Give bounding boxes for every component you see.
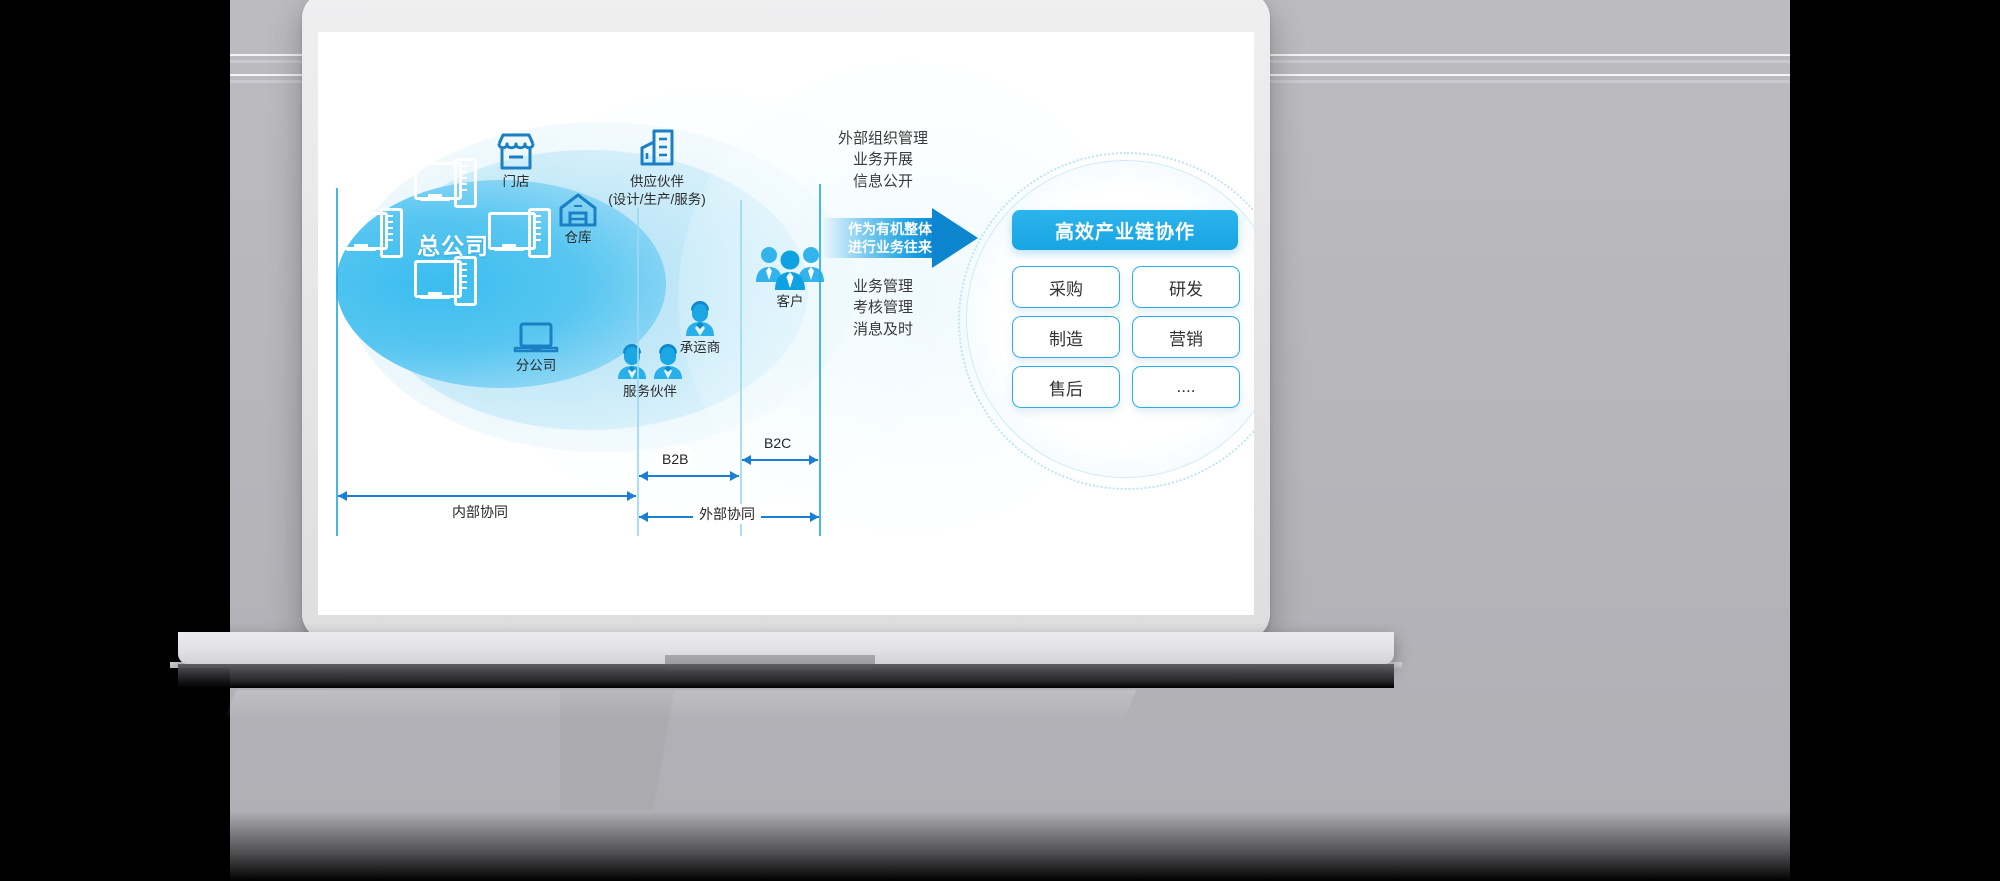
text-line: 消息及时 [818,319,948,340]
desktop-computer-icon-right [488,212,546,254]
arrow-text: 作为有机整体 进行业务往来 [838,220,942,256]
text-line: 考核管理 [818,297,948,318]
arrow-text-line1: 作为有机整体 [838,220,942,238]
node-label-line1: 供应伙伴 [597,174,717,190]
node-supply-partner: 供应伙伴 (设计/生产/服务) [597,128,717,207]
measure-arrow-internal [338,495,636,497]
chip-marketing[interactable]: 营销 [1132,316,1240,358]
chip-procurement[interactable]: 采购 [1012,266,1120,308]
backdrop-floor-shadow [230,811,1790,881]
chip-aftersales[interactable]: 售后 [1012,366,1120,408]
separator-right [819,184,821,536]
text-line: 业务管理 [818,276,948,297]
desktop-computer-icon-bottom [414,260,472,302]
desktop-computer-icon [414,162,472,204]
warehouse-icon [557,192,599,228]
measure-label-b2b: B2B [656,451,694,467]
measure-arrow-b2b [639,475,739,477]
desktop-computer-icon-left [340,212,398,254]
node-label: 分公司 [496,358,576,374]
person-suit-icon [681,298,719,338]
transition-arrow: 作为有机整体 进行业务往来 [824,208,978,268]
people-group-icon [754,244,826,292]
text-line: 信息公开 [818,171,948,192]
measure-arrow-b2c [742,459,818,461]
chip-rnd[interactable]: 研发 [1132,266,1240,308]
storefront-icon [494,132,538,172]
desktop-computer-icon [414,260,472,302]
measure-label-external: 外部协同 [693,504,761,524]
node-branch-office: 分公司 [496,320,576,374]
separator-b2b-b2c [740,200,742,536]
separator-left [336,188,338,536]
node-storefront: 门店 [476,132,556,190]
node-service-partner: 服务伙伴 [600,342,700,400]
hq-label: 总公司 [417,227,489,261]
office-building-icon [636,128,678,172]
desktop-computer-icon [340,212,398,254]
measure-label-b2c: B2C [758,435,797,451]
arrow-text-line2: 进行业务往来 [838,238,942,256]
laptop-icon [512,320,560,356]
floor-reflection [223,690,1136,720]
laptop-device: 总公司 门店 [302,0,1270,640]
laptop-screen: 总公司 门店 [318,32,1254,615]
text-line: 外部组织管理 [818,128,948,149]
text-line: 业务开展 [818,149,948,170]
node-label: 门店 [476,174,556,190]
node-label: 服务伙伴 [600,384,700,400]
desktop-computer-icon [488,212,546,254]
desktop-computer-icon-top [414,162,472,204]
chip-manufacture[interactable]: 制造 [1012,316,1120,358]
separator-internal-external [637,208,639,536]
chip-more[interactable]: .... [1132,366,1240,408]
diagram-canvas: 总公司 门店 [318,32,1254,615]
node-label: 仓库 [543,230,613,246]
measure-label-internal: 内部协同 [446,502,514,522]
business-mgmt-text-block: 业务管理 考核管理 消息及时 [818,276,948,340]
laptop-front-shadow [178,664,1394,688]
two-people-icon [615,342,685,382]
external-mgmt-text-block: 外部组织管理 业务开展 信息公开 [818,128,948,192]
result-title-chip[interactable]: 高效产业链协作 [1012,210,1238,250]
node-label-line2: (设计/生产/服务) [597,192,717,208]
screenshot-root: 总公司 门店 [0,0,2000,881]
